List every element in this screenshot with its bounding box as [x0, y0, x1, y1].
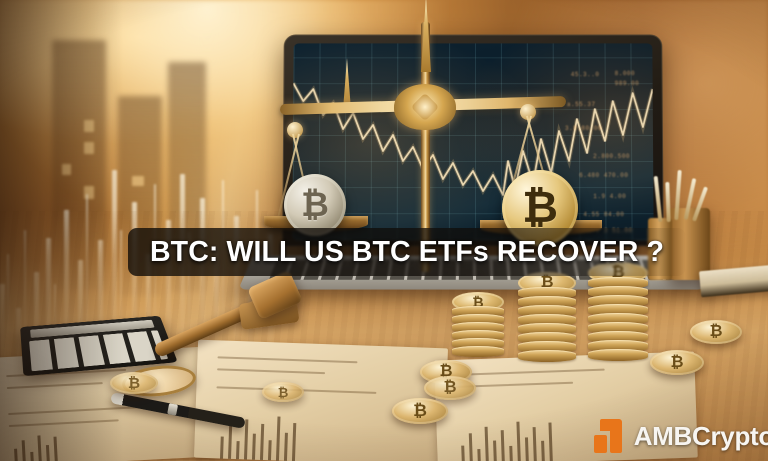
loose-coin-4: ₿: [650, 350, 704, 375]
loose-coin-7: ₿: [262, 382, 304, 402]
headline-text: BTC: WILL US BTC ETFs RECOVER ?: [150, 236, 664, 269]
thumbnail-canvas: 45.3..0 8.000 989.00 a.55.37 3.8.80.00 2…: [0, 0, 768, 461]
headline-banner: BTC: WILL US BTC ETFs RECOVER ?: [128, 228, 686, 276]
loose-coin-2: ₿: [424, 376, 476, 400]
ticker-8: 4.55 84.00: [583, 211, 624, 218]
loose-coin-3: ₿: [392, 398, 448, 424]
ticker-7: 1.9 4.00: [593, 193, 626, 200]
ticker-1: 8.000: [615, 70, 636, 77]
watermark: AMBCrypto: [591, 419, 768, 453]
loose-coin-5: ₿: [690, 320, 742, 344]
scale-pivot-left: [287, 122, 303, 138]
watermark-brand-text: AMBCrypto: [634, 421, 768, 452]
ambcrypto-logo-icon: [591, 419, 625, 453]
scale-ornament: [394, 84, 456, 130]
silver-bitcoin-coin: ₿: [284, 174, 346, 236]
ticker-5: 2.800.500: [593, 153, 630, 160]
loose-coin-6: ₿: [110, 372, 158, 394]
ticker-2: 989.00: [615, 80, 640, 87]
